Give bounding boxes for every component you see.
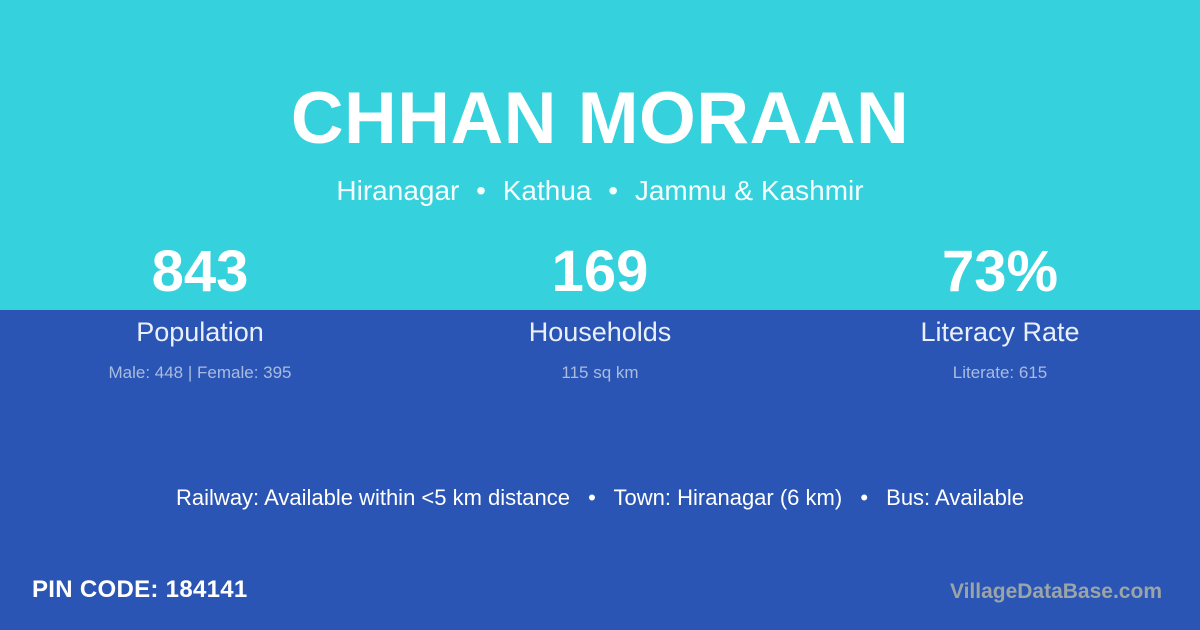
amenity-separator-2: • (848, 485, 880, 510)
breadcrumb-district: Kathua (503, 175, 592, 206)
amenity-town: Town: Hiranagar (6 km) (614, 485, 843, 510)
stat-population: 843 Population Male: 448 | Female: 395 (0, 243, 400, 381)
stat-label: Population (0, 310, 400, 346)
stat-value: 843 (0, 243, 400, 310)
site-brand: VillageDataBase.com (950, 581, 1162, 602)
stat-sublabel: Male: 448 | Female: 395 (0, 346, 400, 381)
stat-value: 169 (400, 243, 800, 310)
stat-label: Literacy Rate (800, 310, 1200, 346)
stat-sublabel: 115 sq km (400, 346, 800, 381)
stat-label: Households (400, 310, 800, 346)
amenities-row: Railway: Available within <5 km distance… (0, 487, 1200, 509)
breadcrumb-block: Hiranagar (336, 175, 459, 206)
amenity-railway: Railway: Available within <5 km distance (176, 485, 570, 510)
stat-value: 73% (800, 243, 1200, 310)
breadcrumb-separator-2: • (599, 175, 627, 206)
card-footer: PIN CODE: 184141 VillageDataBase.com (0, 575, 1200, 630)
stat-literacy-rate: 73% Literacy Rate Literate: 615 (800, 243, 1200, 381)
stat-sublabel: Literate: 615 (800, 346, 1200, 381)
pin-code: PIN CODE: 184141 (32, 578, 248, 602)
breadcrumb-separator-1: • (467, 175, 495, 206)
stats-row: 843 Population Male: 448 | Female: 395 1… (0, 243, 1200, 381)
amenity-separator-1: • (576, 485, 608, 510)
stat-households: 169 Households 115 sq km (400, 243, 800, 381)
card-header: CHHAN MORAAN Hiranagar • Kathua • Jammu … (0, 0, 1200, 205)
amenity-bus: Bus: Available (886, 485, 1024, 510)
page-title: CHHAN MORAAN (0, 0, 1200, 155)
breadcrumb-state: Jammu & Kashmir (635, 175, 864, 206)
village-info-card: CHHAN MORAAN Hiranagar • Kathua • Jammu … (0, 0, 1200, 630)
breadcrumb: Hiranagar • Kathua • Jammu & Kashmir (0, 155, 1200, 205)
